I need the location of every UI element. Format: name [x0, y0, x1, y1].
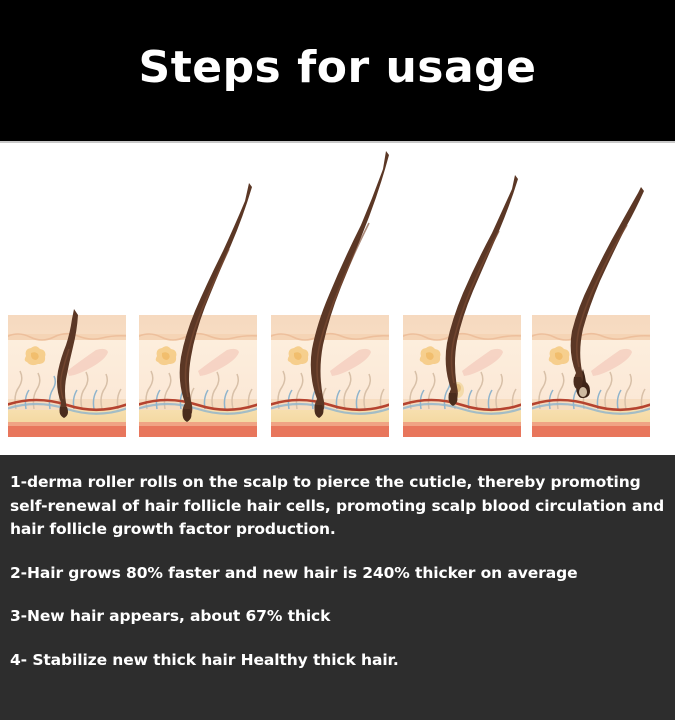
hair-shaft-4: [403, 167, 521, 437]
header-banner: Steps for usage: [0, 0, 675, 141]
step-item-3: 3-New hair appears, about 67% thick: [10, 605, 665, 629]
product-infographic: Steps for usage: [0, 0, 675, 720]
hair-shaft-2: [139, 167, 257, 437]
illustration-panel-4: [403, 315, 521, 437]
page-title: Steps for usage: [139, 46, 537, 96]
steps-text-panel: 1-derma roller rolls on the scalp to pie…: [0, 455, 675, 720]
illustration-band: [0, 143, 675, 455]
step-item-2: 2-Hair grows 80% faster and new hair is …: [10, 562, 665, 586]
hair-shaft-3: [271, 143, 389, 437]
illustration-panel-5: [532, 315, 650, 437]
step-item-4: 4- Stabilize new thick hair Healthy thic…: [10, 649, 665, 673]
illustration-panel-3: [271, 315, 389, 437]
illustration-panel-2: [139, 315, 257, 437]
illustration-panel-1: [8, 315, 126, 437]
hair-shaft-1: [8, 237, 126, 437]
hair-shaft-5: [532, 187, 650, 437]
step-item-1: 1-derma roller rolls on the scalp to pie…: [10, 471, 665, 542]
